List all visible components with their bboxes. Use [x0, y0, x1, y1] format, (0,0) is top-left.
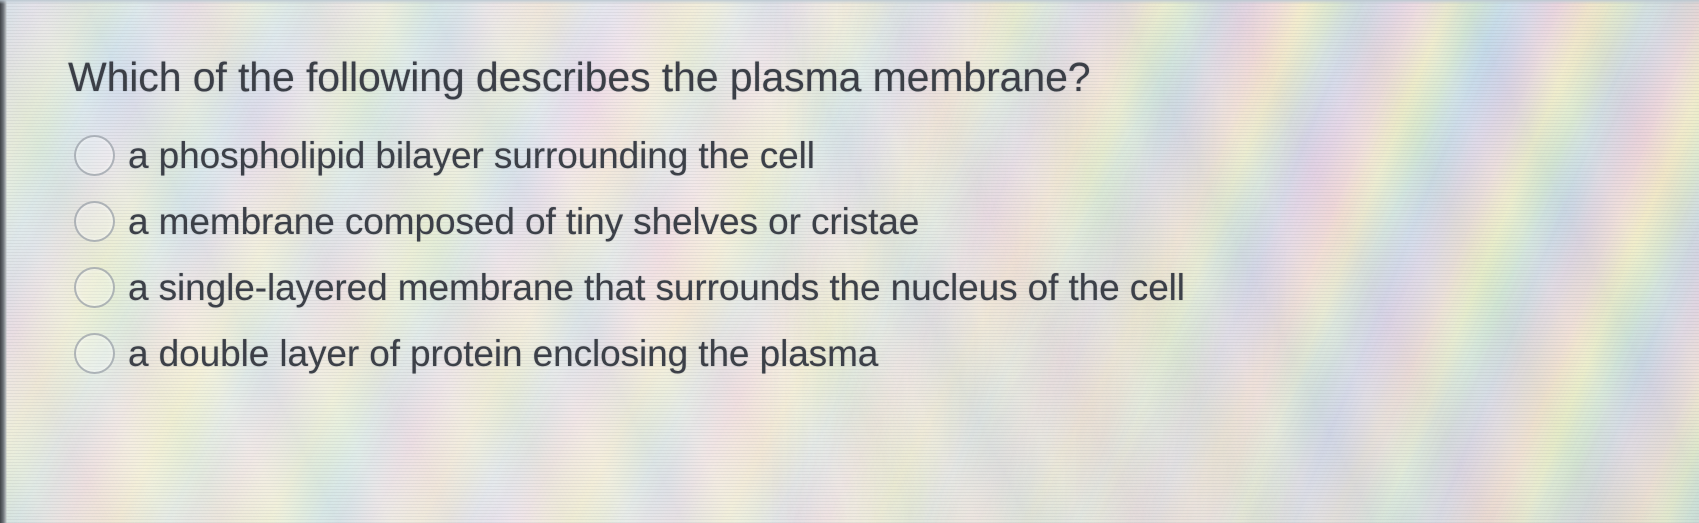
radio-button-icon-b[interactable]: [74, 201, 115, 242]
answer-option-label-d: a double layer of protein enclosing the …: [128, 335, 878, 372]
answer-options-list: a phospholipid bilayer surrounding the c…: [74, 122, 1634, 386]
radio-button-icon-c[interactable]: [74, 267, 115, 308]
quiz-screenshot: Which of the following describes the pla…: [0, 0, 1699, 523]
radio-button-icon-d[interactable]: [74, 333, 115, 374]
answer-option-label-a: a phospholipid bilayer surrounding the c…: [128, 137, 815, 174]
answer-option-label-c: a single-layered membrane that surrounds…: [128, 269, 1185, 306]
question-prompt: Which of the following describes the pla…: [68, 57, 1090, 98]
answer-option-a[interactable]: a phospholipid bilayer surrounding the c…: [74, 122, 1634, 188]
answer-option-b[interactable]: a membrane composed of tiny shelves or c…: [74, 188, 1634, 254]
answer-option-d[interactable]: a double layer of protein enclosing the …: [74, 320, 1634, 386]
answer-option-label-b: a membrane composed of tiny shelves or c…: [128, 203, 919, 240]
radio-button-icon-a[interactable]: [74, 135, 115, 176]
answer-option-c[interactable]: a single-layered membrane that surrounds…: [74, 254, 1634, 320]
question-content: Which of the following describes the pla…: [0, 0, 1699, 523]
